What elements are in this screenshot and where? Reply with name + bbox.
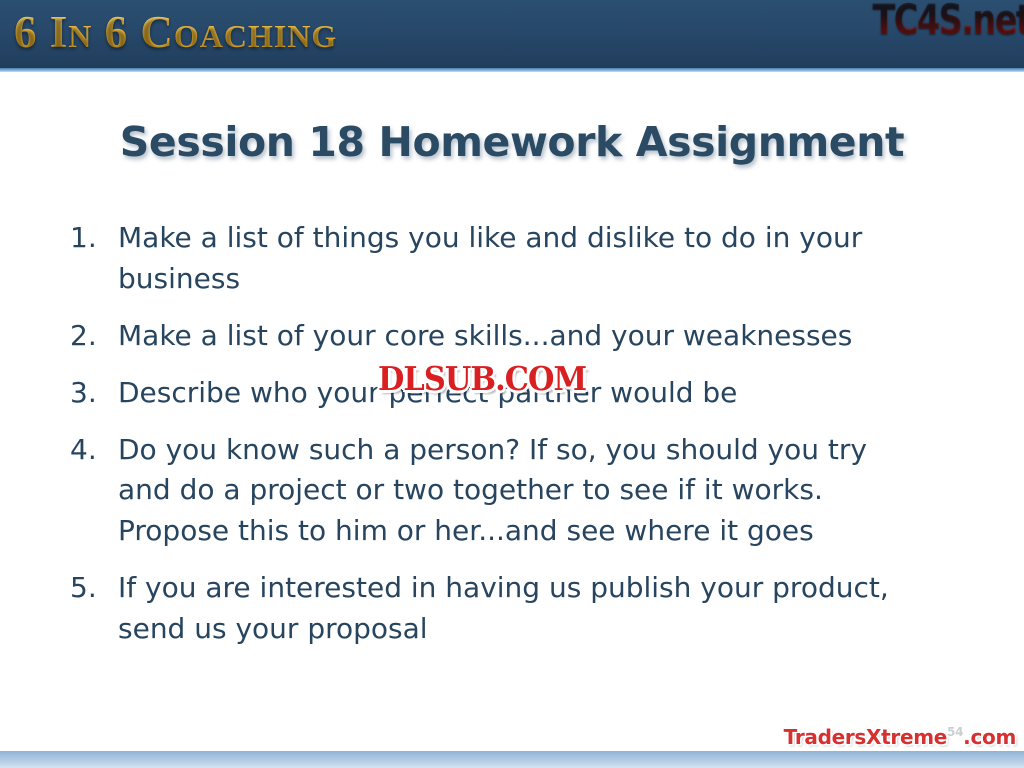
footer-bar <box>0 751 1024 768</box>
footer-logo-text: TradersXtreme <box>784 725 947 749</box>
slide-canvas: 6 In 6 Coaching TC4S.net Session 18 Home… <box>0 0 1024 768</box>
list-item-text: Make a list of things you like and disli… <box>118 218 918 300</box>
footer-logo-mark: 54 <box>947 725 963 739</box>
list-item-number: 2. <box>70 316 118 357</box>
list-item-text: Do you know such a person? If so, you sh… <box>118 430 918 553</box>
list-item: 4. Do you know such a person? If so, you… <box>70 430 960 553</box>
list-item-number: 4. <box>70 430 118 471</box>
header-banner: 6 In 6 Coaching TC4S.net <box>0 0 1024 72</box>
tc4s-site-logo: TC4S.net <box>872 0 1024 42</box>
tradersxtreme-footer-logo: TradersXtreme54.com <box>784 725 1016 749</box>
list-item: 1. Make a list of things you like and di… <box>70 218 960 300</box>
list-item: 5. If you are interested in having us pu… <box>70 568 960 650</box>
homework-list: 1. Make a list of things you like and di… <box>70 218 960 666</box>
slide-title: Session 18 Homework Assignment <box>0 118 1024 166</box>
footer-logo-suffix: .com <box>963 725 1016 749</box>
list-item-text: Make a list of your core skills...and yo… <box>118 316 918 357</box>
list-item-number: 1. <box>70 218 118 259</box>
list-item-text: If you are interested in having us publi… <box>118 568 918 650</box>
brand-title: 6 In 6 Coaching <box>14 7 337 57</box>
list-item: 2. Make a list of your core skills...and… <box>70 316 960 357</box>
dlsub-watermark: DLSUB.COM <box>378 359 586 398</box>
list-item-number: 5. <box>70 568 118 609</box>
list-item-number: 3. <box>70 373 118 414</box>
